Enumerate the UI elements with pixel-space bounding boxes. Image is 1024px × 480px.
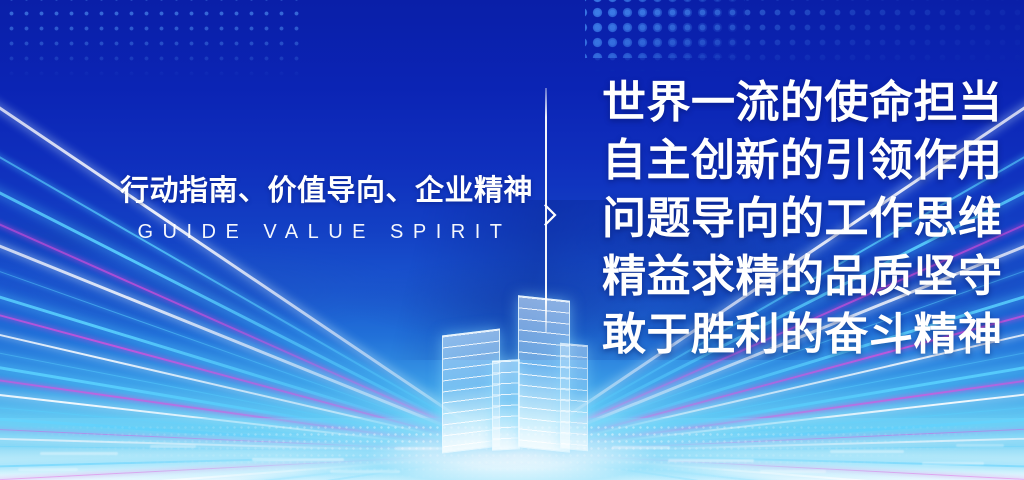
- building-middle: [492, 359, 520, 450]
- light-streak: [0, 348, 512, 454]
- ground-light-bar: [956, 444, 1004, 447]
- left-subtitle: GUIDE VALUE SPIRIT: [120, 221, 520, 244]
- slogan-line-5: 敢于胜利的奋斗精神: [602, 306, 1003, 364]
- ground-light-bar: [612, 446, 670, 449]
- building-floor-lines: [561, 344, 587, 450]
- building-floor-lines: [443, 330, 499, 453]
- right-text-block: 世界一流的使命担当自主创新的引领作用问题导向的工作思维精益求精的品质坚守敢于胜利…: [602, 74, 1003, 364]
- light-streak: [0, 429, 512, 454]
- ground-light-bar: [330, 470, 400, 473]
- light-streak: [0, 98, 513, 455]
- light-streak: [0, 218, 512, 453]
- light-streak: [0, 452, 512, 480]
- light-streak: [0, 389, 512, 453]
- ground-light-bar: [18, 468, 78, 471]
- slogan-line-2: 自主创新的引领作用: [602, 132, 1003, 190]
- light-streak: [512, 452, 1024, 472]
- light-streak: [0, 452, 512, 472]
- light-streak: [512, 452, 1024, 480]
- ground-light-bar: [668, 459, 754, 462]
- slogan-line-1: 世界一流的使命担当: [602, 74, 1003, 132]
- city-buildings: [440, 300, 620, 450]
- light-streak: [512, 452, 1024, 480]
- slogan-line-3: 问题导向的工作思维: [602, 190, 1003, 248]
- light-streak: [0, 221, 512, 455]
- ground-light-bar: [760, 470, 826, 473]
- left-headline: 行动指南、价值导向、企业精神: [120, 176, 520, 208]
- light-streak: [0, 452, 512, 480]
- light-streak: [0, 452, 512, 480]
- light-streak: [0, 398, 512, 454]
- ground-light-bar: [40, 452, 118, 455]
- halftone-dots-top-left: [0, 0, 300, 78]
- light-streak: [0, 318, 512, 453]
- halftone-dots-top-right: [585, 0, 1024, 72]
- ground-light-bar: [922, 462, 984, 465]
- left-text-block: 行动指南、价值导向、企业精神 GUIDE VALUE SPIRIT: [120, 176, 520, 244]
- light-streak: [0, 418, 512, 454]
- light-streak: [0, 320, 512, 455]
- light-streak: [0, 361, 512, 454]
- light-streak: [0, 279, 512, 454]
- halftone-dots-top-right-large: [585, 0, 745, 58]
- slogan-line-4: 精益求精的品质坚守: [602, 248, 1003, 306]
- light-streak: [0, 443, 512, 453]
- light-streak: [0, 82, 512, 454]
- light-streak: [512, 452, 1024, 480]
- light-streak: [512, 452, 1024, 480]
- ground-light-bar: [150, 445, 196, 448]
- building-floor-lines: [493, 360, 519, 449]
- light-streak: [0, 261, 512, 454]
- ground-light-bar: [252, 458, 344, 461]
- chevron-right-icon: [544, 204, 557, 226]
- culture-banner: 行动指南、价值导向、企业精神 GUIDE VALUE SPIRIT 世界一流的使…: [0, 0, 1024, 480]
- building-side: [560, 343, 588, 451]
- light-streak: [0, 452, 512, 480]
- ground-light-bar: [830, 450, 904, 453]
